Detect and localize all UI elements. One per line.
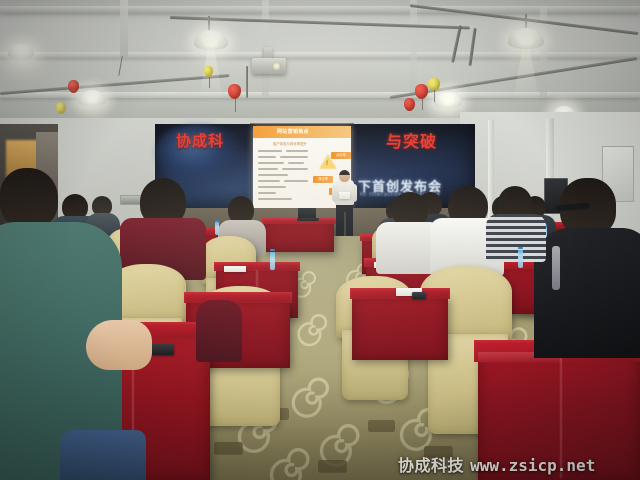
slide-body-line [288, 162, 304, 164]
bottle-cap [270, 249, 275, 251]
bottle-cap [518, 247, 523, 249]
attendee-body-striped [486, 214, 546, 262]
slide-header-title: 网站营销焦点 [277, 128, 309, 135]
watermark-brand: 协成科技 [398, 456, 464, 475]
table-top [184, 292, 292, 303]
foreground-attendee-head [0, 168, 58, 228]
laptop-base [297, 218, 319, 221]
foreground-attendee-arm [86, 320, 152, 370]
slide-body-line [258, 150, 282, 152]
slide-body-line [258, 198, 292, 200]
slide-tag: 点击率 [331, 152, 351, 159]
slide-body-line [258, 180, 280, 182]
banner-headline-left: 协成科 [176, 130, 224, 151]
conference-room-photo: 协成科 与突破 下首创发布会 Hi Interactive Conference… [0, 0, 640, 480]
lamp-core [200, 36, 222, 48]
ceiling-beam-cross [120, 0, 128, 60]
foreground-attendee-body [534, 228, 640, 358]
table-row [352, 296, 448, 360]
table-row [264, 222, 334, 252]
presenter-arm-right [351, 184, 357, 202]
slide-subtitle: 客户体验与转化率提升 [273, 141, 307, 146]
pendant-lamp [8, 44, 34, 59]
watermark-domain: www.zsicp.net [470, 456, 595, 475]
slide-body-line [258, 192, 276, 194]
slide-body-line [286, 150, 308, 152]
handout-paper [224, 266, 246, 272]
smartphone-on-table [412, 292, 426, 299]
balloon-string [235, 98, 236, 112]
slide-body-line [258, 162, 284, 164]
lamp-core [440, 96, 457, 105]
water-bottle [518, 250, 523, 268]
lamp-core [84, 94, 101, 103]
presenter-notes [339, 192, 350, 199]
lamp-core [515, 34, 537, 46]
water-bottle [215, 222, 219, 235]
ceiling-beam-cross [410, 0, 417, 96]
projector-lens-icon [272, 62, 281, 70]
attendee-shoulder [196, 300, 242, 362]
banner-headline-right: 与突破 [386, 128, 437, 152]
warning-exclamation-icon: ! [326, 161, 328, 167]
slide-body-line [258, 156, 276, 158]
ceiling-drop-wire [246, 66, 248, 98]
slide-body-line [280, 156, 308, 158]
foreground-attendee-jeans [60, 430, 146, 480]
slide-body-line [258, 174, 288, 176]
presenter-arm-left [332, 184, 338, 202]
slide-body-line [284, 180, 308, 182]
water-bottle [270, 252, 275, 270]
slide-body-line [258, 186, 286, 188]
lanyard-strap [552, 246, 560, 290]
watermark: 协成科技 www.zsicp.net [398, 452, 632, 474]
slide-body-line [258, 168, 278, 170]
balloon-string [434, 90, 435, 102]
presenter-head [339, 170, 350, 182]
slide-tag: 转化率 [313, 176, 333, 183]
bottle-cap [215, 220, 219, 222]
slide-body-line [282, 168, 308, 170]
